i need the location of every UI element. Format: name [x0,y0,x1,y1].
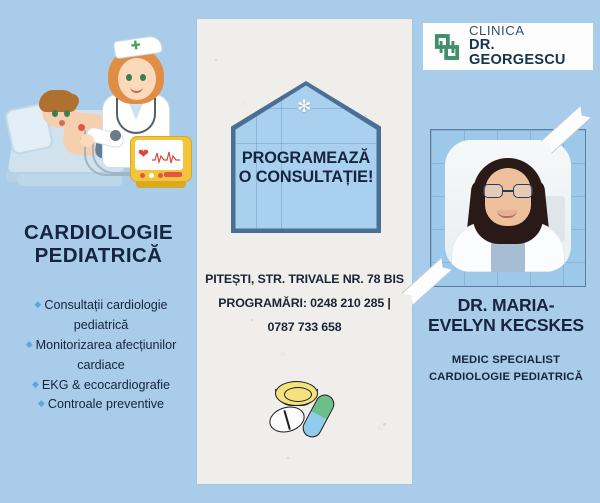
doctor-role-line2: CARDIOLOGIE PEDIATRICĂ [412,369,600,386]
diamond-bullet-icon: ◆ [26,339,33,349]
list-item: ◆Consultații cardiologie pediatrică [10,296,192,336]
doctor-role: MEDIC SPECIALIST CARDIOLOGIE PEDIATRICĂ [412,352,600,387]
clinic-logo-line2: DR. GEORGESCU [469,38,586,68]
glasses-bridge [503,190,513,192]
clinic-logo-line1: CLINICA [469,24,586,38]
paper-texture-speck [383,423,386,426]
clinic-logo[interactable]: CLINICA DR. GEORGESCU [423,23,593,70]
diamond-bullet-icon: ◆ [38,398,45,408]
flyer-canvas: ❤ CARDIOLOGIE PEDIATRICĂ ◆Consultații ca… [0,0,600,503]
left-panel: ❤ CARDIOLOGIE PEDIATRICĂ ◆Consultații ca… [0,0,197,503]
benefits-list: ◆Consultații cardiologie pediatrică ◆Mon… [10,296,192,415]
heart-icon: ❤ [138,146,149,162]
cta-text: PROGRAMEAZĂ O CONSULTAȚIE! [231,149,381,187]
child-mouth [59,120,65,126]
paper-texture-speck [215,59,217,61]
eyeglasses-icon [483,184,533,198]
pediatric-cardiology-illustration: ❤ [4,24,194,220]
nurse-eye [140,74,146,81]
glasses-lens [483,184,503,198]
child-eye [64,110,70,117]
right-panel: CLINICA DR. GEORGESCU [412,0,600,503]
center-paper-panel: ✻ PROGRAMEAZĂ O CONSULTAȚIE! PITEȘTI, ST… [197,19,412,484]
list-item: ◆EKG & ecocardiografie [10,376,192,396]
pills-illustration [267,377,347,439]
clinic-logo-text: CLINICA DR. GEORGESCU [469,24,586,68]
clinic-phone-primary[interactable]: PROGRAMĂRI: 0248 210 285 | [201,291,408,315]
asterisk-flower-icon: ✻ [297,98,311,115]
monitor-button [158,173,163,178]
contact-block: PITEȘTI, STR. TRIVALE NR. 78 BIS PROGRAM… [201,267,408,340]
clinic-phone-secondary[interactable]: 0787 733 658 [201,315,408,339]
paper-texture-speck [365,115,367,117]
pill-tablet-white [266,403,307,437]
diamond-bullet-icon: ◆ [34,299,41,309]
avatar [445,140,571,272]
page-title-line1: CARDIOLOGIE [0,222,197,245]
stethoscope-bell [110,130,121,141]
paper-texture-speck [287,457,289,459]
list-item: ◆Monitorizarea afecțiunilor cardiace [10,336,192,376]
list-item-label: EKG & ecocardiografie [42,378,170,392]
ecg-waveform-icon [152,150,180,164]
list-item-label: Consultații cardiologie pediatrică [44,298,167,332]
nurse-face [118,58,156,100]
list-item-label: Controale preventive [48,397,164,411]
nurse-hand [80,134,94,147]
monitor-indicator [164,172,182,177]
doctor-role-line1: MEDIC SPECIALIST [412,352,600,369]
interlocking-knot-logo-icon [430,30,464,64]
cta-line2: O CONSULTAȚIE! [231,168,381,187]
clinic-address: PITEȘTI, STR. TRIVALE NR. 78 BIS [201,267,408,291]
doctor-name-line2: EVELYN KECSKES [408,316,600,336]
child-hair [39,90,77,112]
diamond-bullet-icon: ◆ [32,379,39,389]
doctor-name: DR. MARIA- EVELYN KECSKES [408,296,600,336]
glasses-lens [513,184,533,198]
page-title: CARDIOLOGIE PEDIATRICĂ [0,222,197,268]
monitor-button [140,173,145,178]
cta-line1: PROGRAMEAZĂ [231,149,381,168]
nurse-eye [126,74,132,81]
list-item-label: Monitorizarea afecțiunilor cardiace [36,338,177,372]
monitor-button [149,173,154,178]
pill-disc-yellow [275,381,318,406]
monitor-base [136,181,186,188]
child-eye [52,110,58,117]
page-title-line2: PEDIATRICĂ [0,245,197,268]
doctor-name-line1: DR. MARIA- [408,296,600,316]
list-item: ◆Controale preventive [10,395,192,415]
